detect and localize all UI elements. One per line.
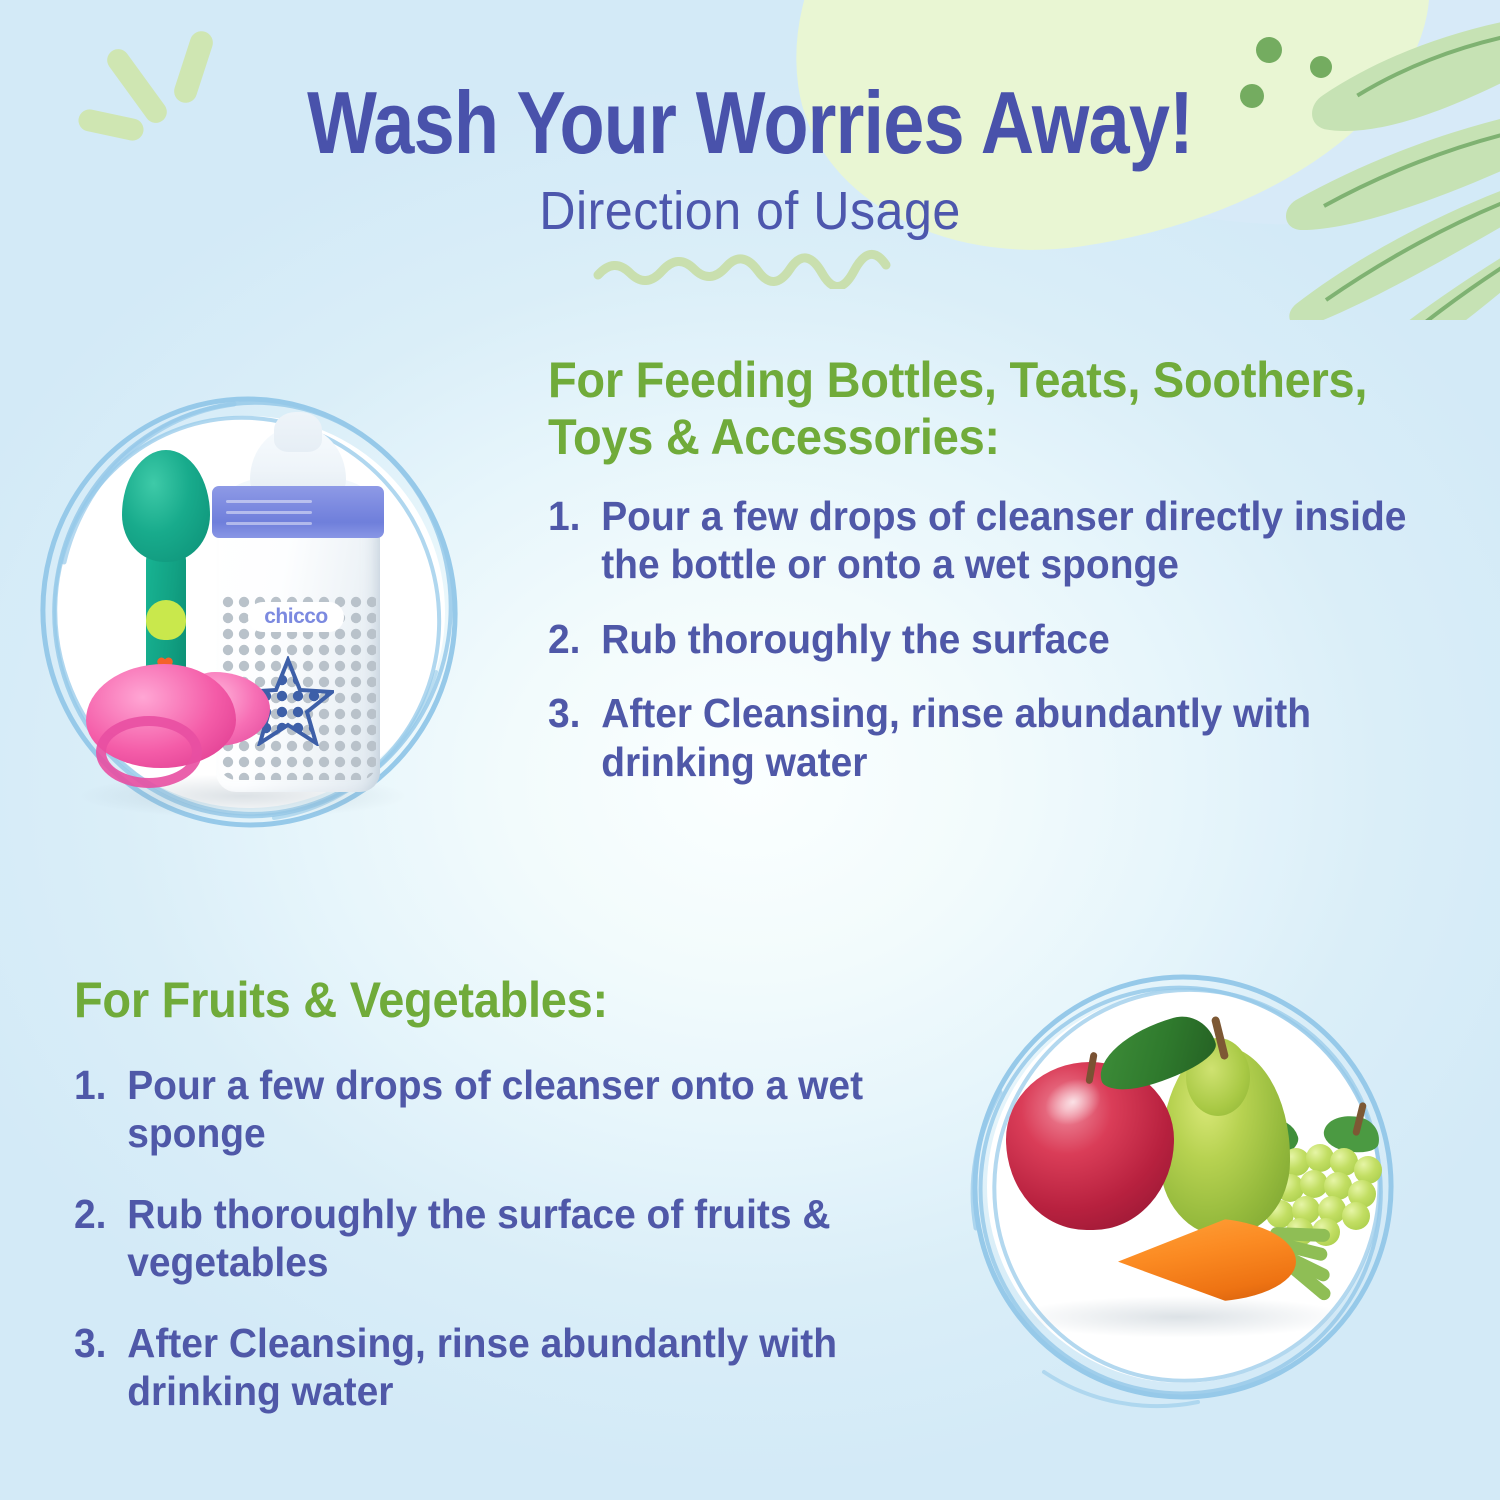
step-number: 1. — [74, 1061, 127, 1109]
step-text: Pour a few drops of cleanser onto a wet … — [127, 1061, 872, 1158]
step-text: After Cleansing, rinse abundantly with d… — [127, 1319, 872, 1416]
page-subtitle: Direction of Usage — [53, 168, 1448, 241]
section-heading-feeding-bottles: For Feeding Bottles, Teats, Soothers, To… — [548, 352, 1403, 466]
list-item: 2. Rub thoroughly the surface — [548, 615, 1413, 663]
carrot-illustration — [1118, 1210, 1314, 1314]
products-photo-stage: chicco — [64, 402, 436, 812]
baby-products-photo: chicco — [24, 372, 474, 852]
steps-list-fruits-vegetables: 1. Pour a few drops of cleanser onto a w… — [74, 1061, 914, 1415]
step-text: Rub thoroughly the surface — [601, 615, 1412, 663]
list-item: 3. After Cleansing, rinse abundantly wit… — [548, 689, 1413, 786]
section-fruits-vegetables: For Fruits & Vegetables: 1. Pour a few d… — [74, 972, 914, 1447]
wavy-squiggle-divider-icon — [590, 249, 910, 289]
produce-photo-stage — [1000, 1014, 1380, 1344]
step-number: 2. — [74, 1190, 127, 1238]
list-item: 2. Rub thoroughly the surface of fruits … — [74, 1190, 872, 1287]
step-number: 3. — [548, 689, 601, 737]
step-text: Pour a few drops of cleanser directly in… — [601, 492, 1412, 589]
step-text: After Cleansing, rinse abundantly with d… — [601, 689, 1412, 786]
pacifier-illustration — [86, 650, 276, 780]
section-heading-fruits-vegetables: For Fruits & Vegetables: — [74, 972, 864, 1029]
chicco-brand-label: chicco — [248, 602, 344, 632]
step-number: 2. — [548, 615, 601, 663]
poster-canvas: Wash Your Worries Away! Direction of Usa… — [0, 0, 1500, 1500]
fruits-vegetables-photo — [948, 952, 1418, 1422]
step-number: 1. — [548, 492, 601, 540]
list-item: 1. Pour a few drops of cleanser onto a w… — [74, 1061, 872, 1158]
section-feeding-bottles: For Feeding Bottles, Teats, Soothers, To… — [548, 352, 1458, 812]
steps-list-feeding-bottles: 1. Pour a few drops of cleanser directly… — [548, 492, 1458, 786]
step-text: Rub thoroughly the surface of fruits & v… — [127, 1190, 872, 1287]
poster-header: Wash Your Worries Away! Direction of Usa… — [0, 0, 1500, 289]
list-item: 1. Pour a few drops of cleanser directly… — [548, 492, 1413, 589]
list-item: 3. After Cleansing, rinse abundantly wit… — [74, 1319, 872, 1416]
step-number: 3. — [74, 1319, 127, 1367]
page-title: Wash Your Worries Away! — [120, 0, 1380, 168]
